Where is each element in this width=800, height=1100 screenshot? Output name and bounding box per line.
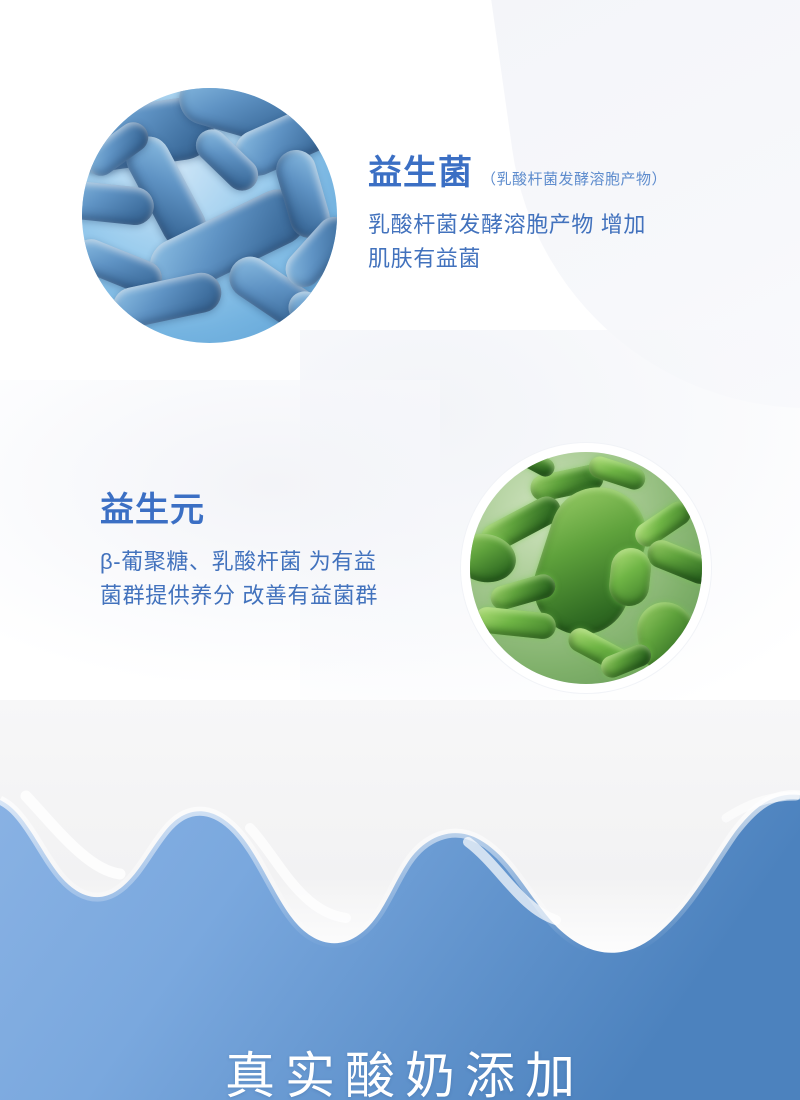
probiotic-heading-row: 益生菌 （乳酸杆菌发酵溶胞产物） bbox=[368, 155, 667, 192]
milk-wave-svg bbox=[0, 700, 800, 1100]
prebiotic-bacteria-photo bbox=[470, 452, 702, 684]
milk-wave-bottom-panel bbox=[0, 700, 800, 1100]
prebiotic-body-text: β-葡聚糖、乳酸杆菌 为有益 菌群提供养分 改善有益菌群 bbox=[100, 545, 378, 613]
probiotic-text-block: 益生菌 （乳酸杆菌发酵溶胞产物） 乳酸杆菌发酵溶胞产物 增加 肌肤有益菌 bbox=[368, 155, 667, 277]
bacteria-rods-blue bbox=[82, 88, 337, 343]
probiotic-bacteria-photo bbox=[82, 88, 337, 343]
bottom-headline: 真实酸奶添加 bbox=[0, 1048, 800, 1100]
probiotic-heading-note: （乳酸杆菌发酵溶胞产物） bbox=[481, 168, 667, 189]
bacteria-rods-green bbox=[470, 452, 702, 684]
prebiotic-heading-row: 益生元 bbox=[100, 492, 378, 529]
prebiotic-heading: 益生元 bbox=[100, 492, 205, 529]
probiotic-body-text: 乳酸杆菌发酵溶胞产物 增加 肌肤有益菌 bbox=[368, 208, 667, 276]
prebiotic-text-block: 益生元 β-葡聚糖、乳酸杆菌 为有益 菌群提供养分 改善有益菌群 bbox=[100, 492, 378, 614]
probiotic-heading: 益生菌 bbox=[368, 155, 473, 192]
product-detail-page: 益生菌 （乳酸杆菌发酵溶胞产物） 乳酸杆菌发酵溶胞产物 增加 肌肤有益菌 益生 bbox=[0, 0, 800, 1100]
